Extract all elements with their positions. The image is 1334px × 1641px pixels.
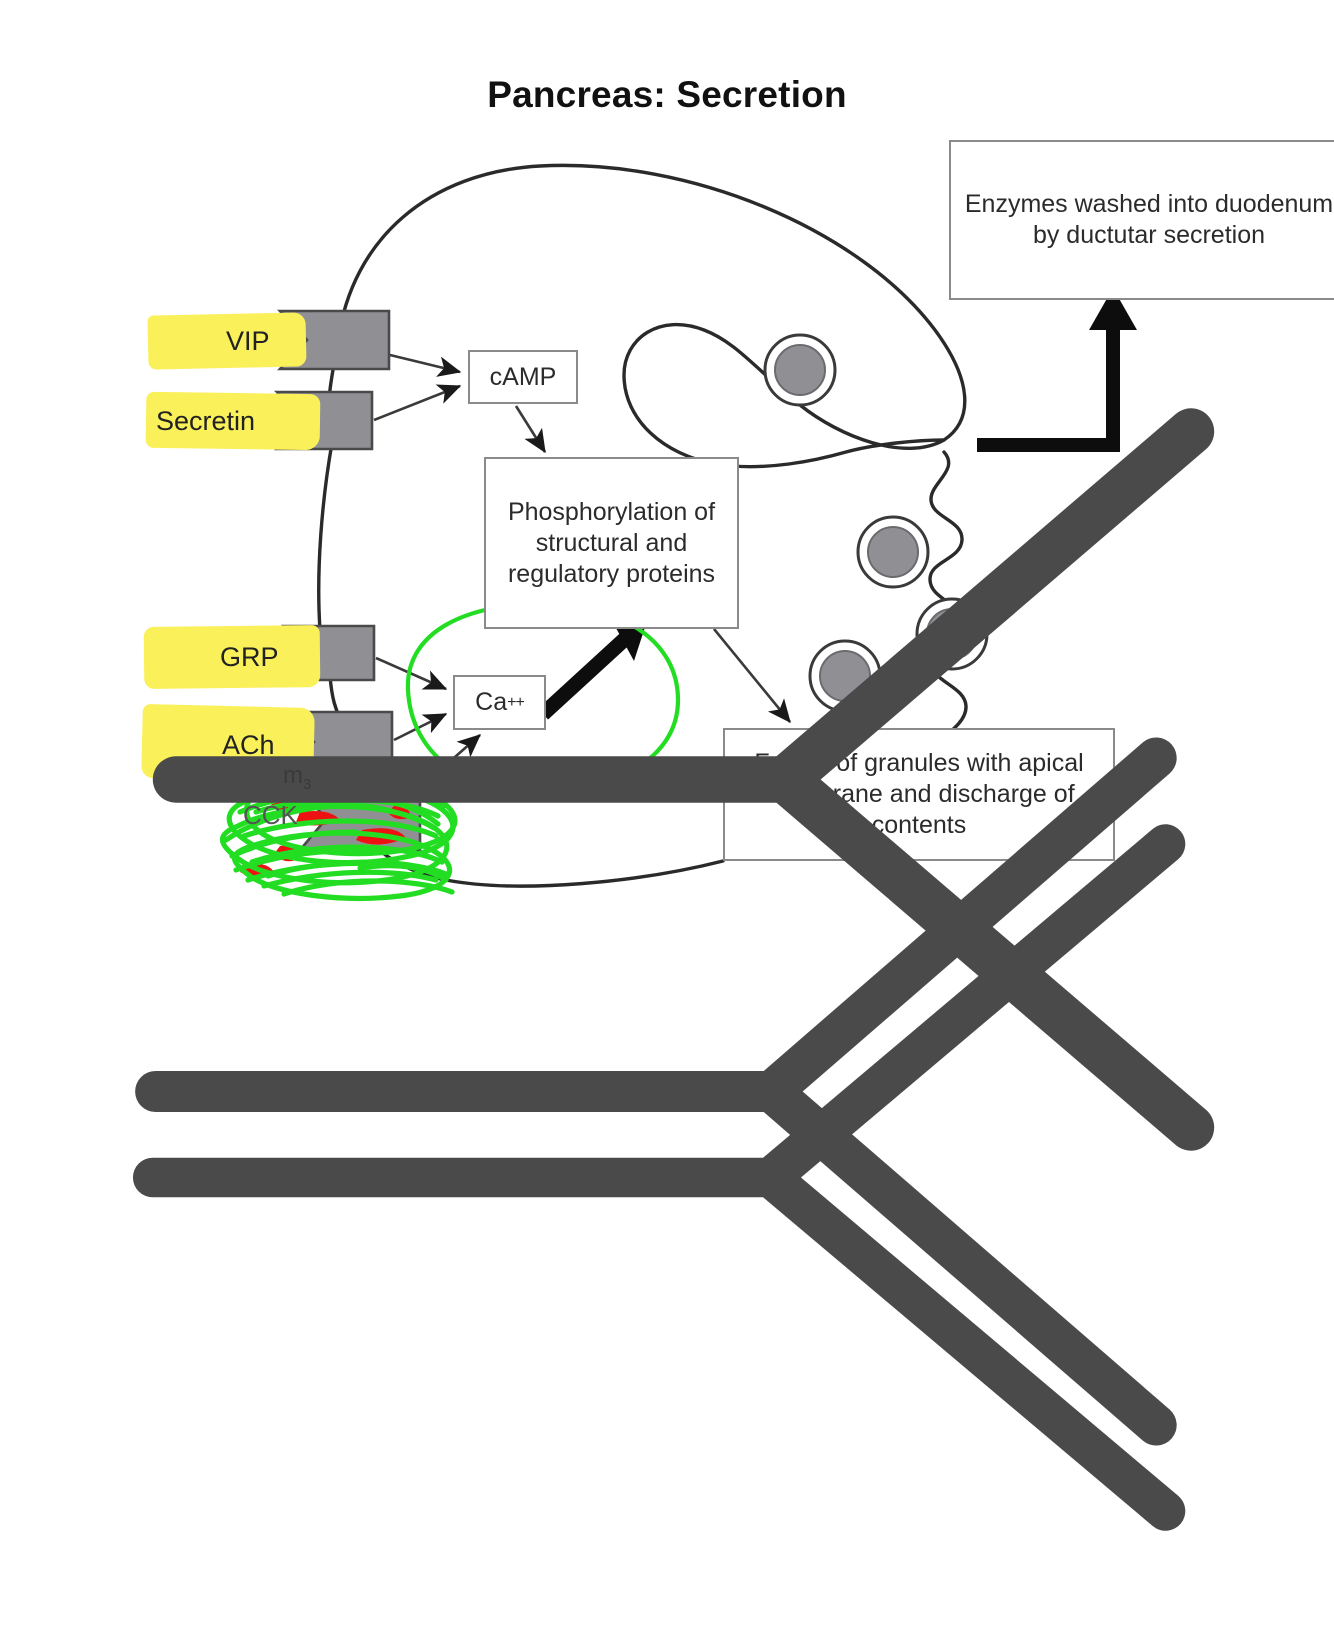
enzymes-washed-text: Enzymes washed into duodenum by ductutar…: [961, 189, 1334, 251]
m3-subscript: 3: [303, 776, 311, 793]
ligand-label-ach: ACh: [222, 730, 275, 761]
diagram-canvas: Pancreas: Secretion: [0, 0, 1334, 927]
ligand-label-vip: VIP: [226, 326, 270, 357]
m3-base: m: [283, 762, 303, 789]
receptor-label-cck-obscured: CCK: [243, 800, 298, 831]
ligand-label-secretin: Secretin: [156, 406, 255, 437]
enzymes-washed-box: Enzymes washed into duodenum by ductutar…: [949, 140, 1334, 300]
ligand-label-grp: GRP: [220, 642, 279, 673]
receptor-subtype-label-m3: m3: [283, 762, 311, 793]
ligand-y-shape-ach: [128, 714, 1334, 1641]
